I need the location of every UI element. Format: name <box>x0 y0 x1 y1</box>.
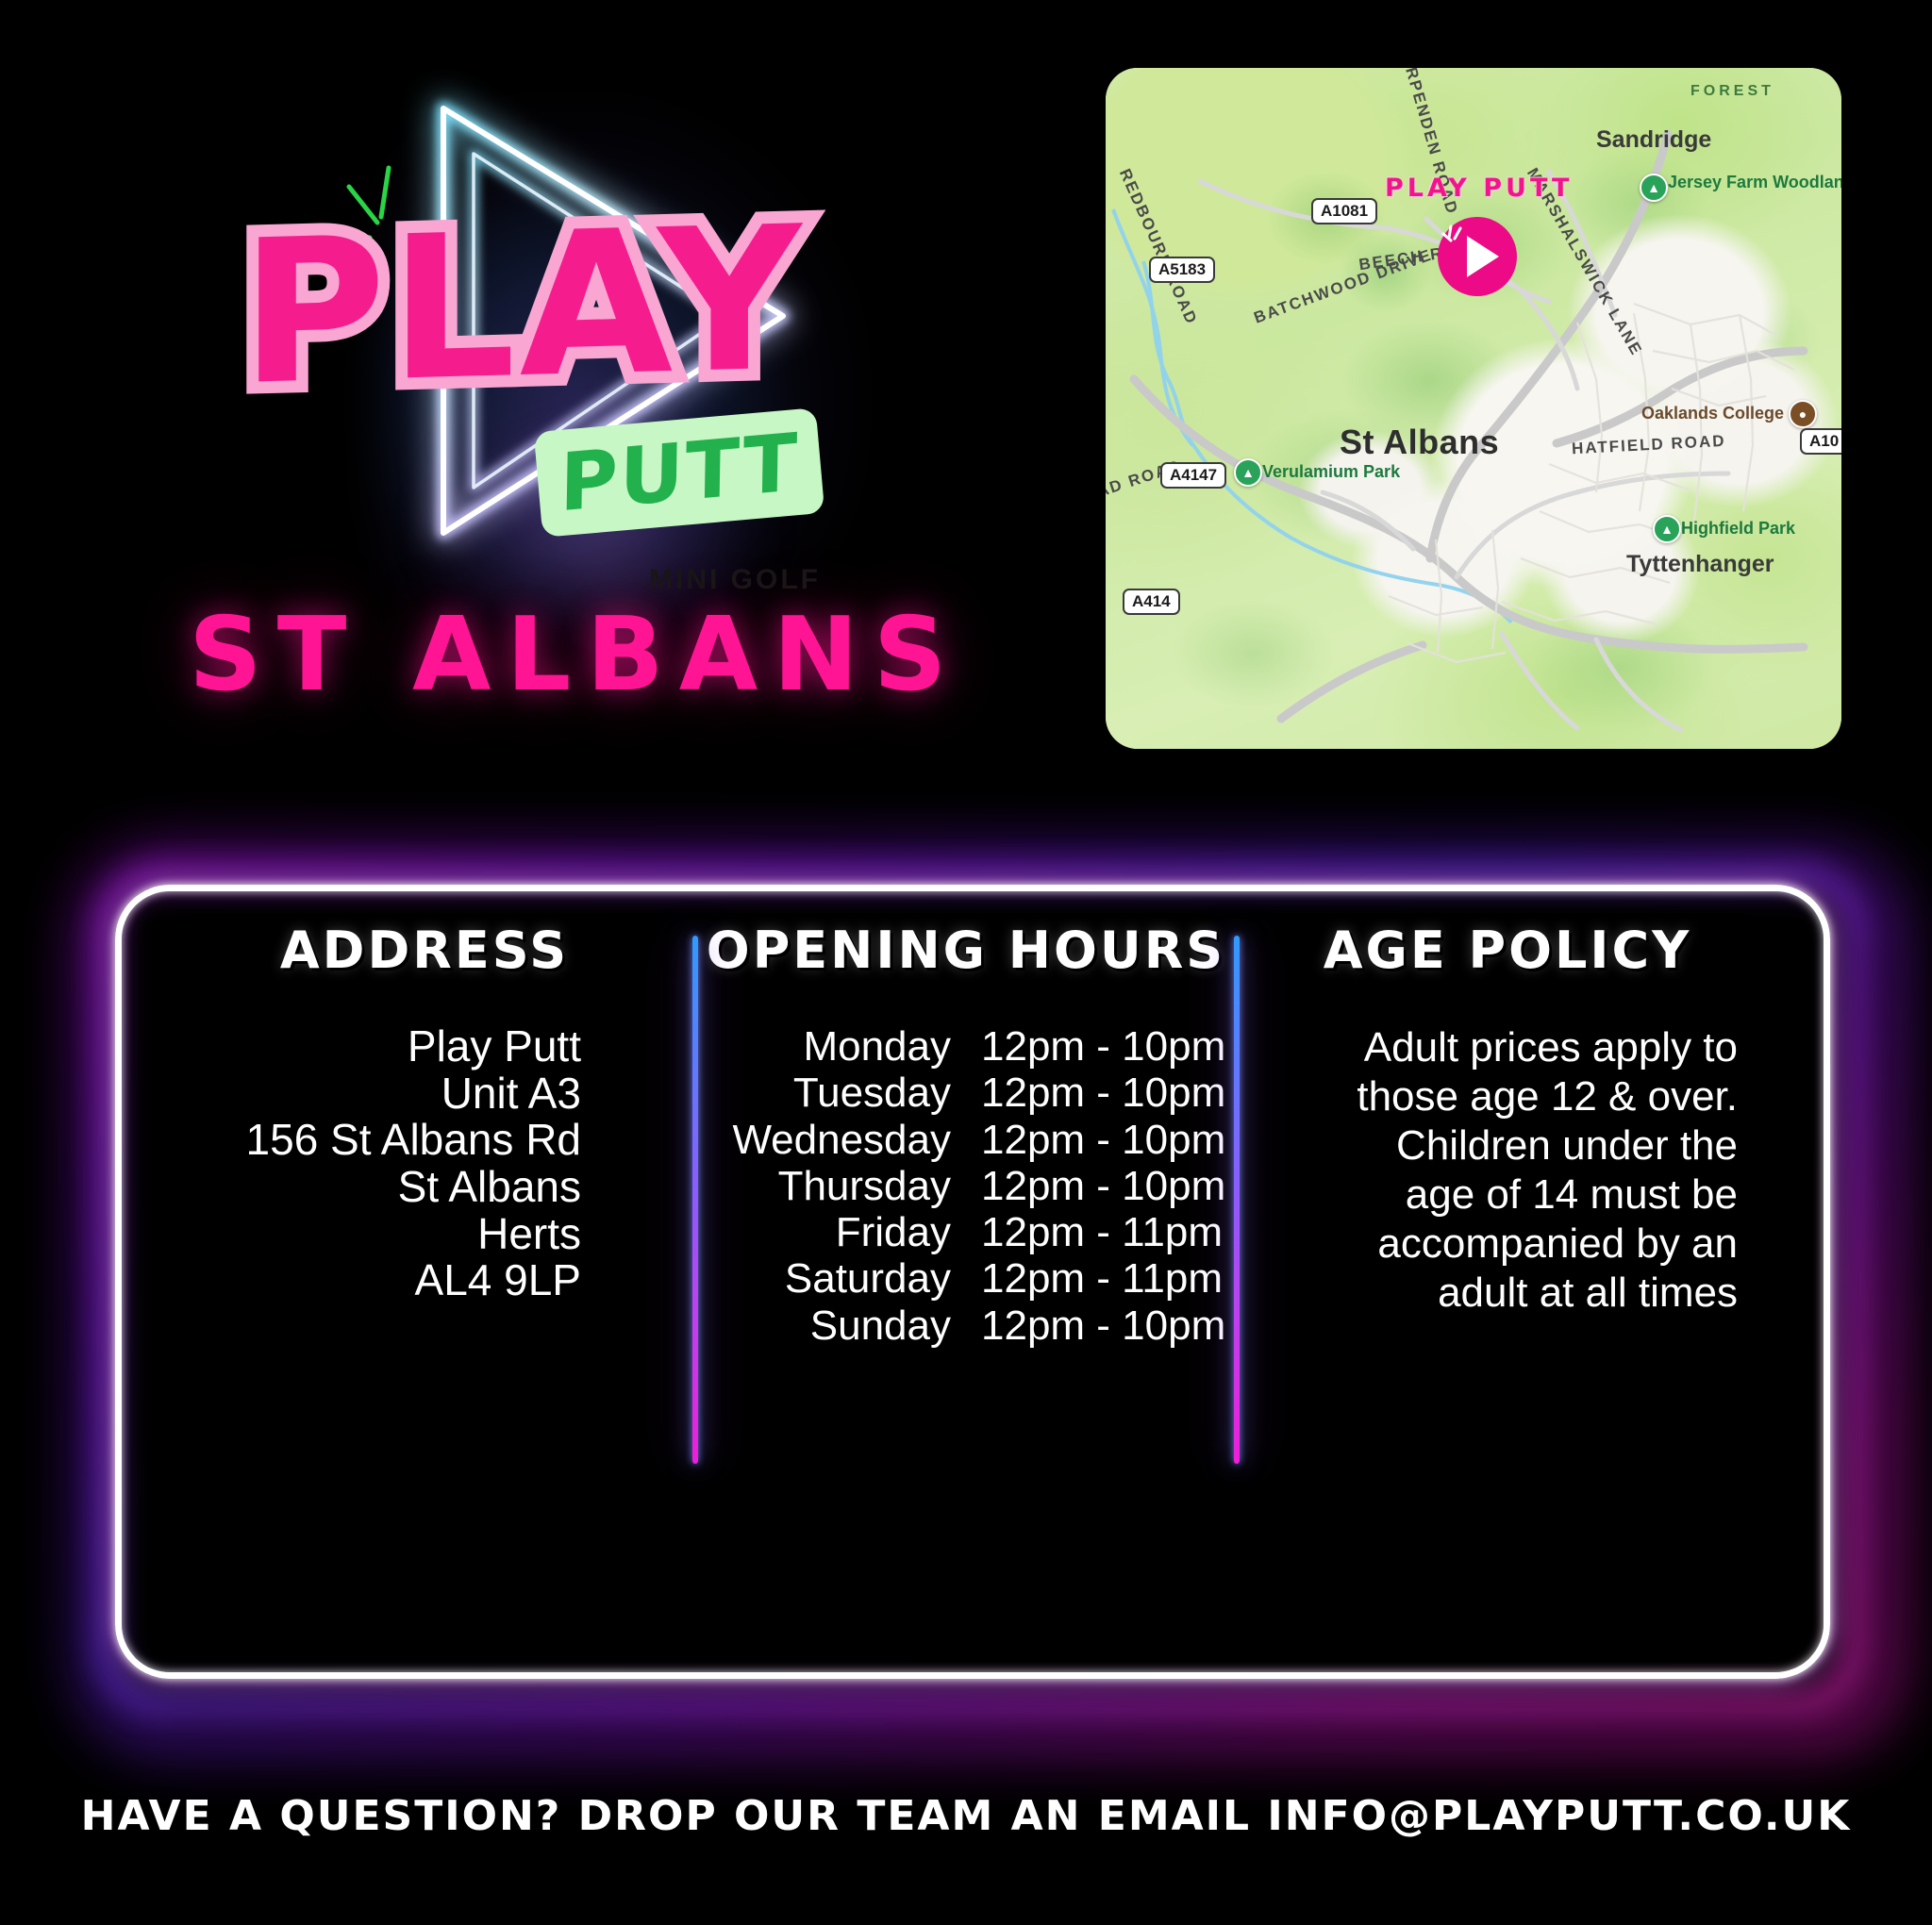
address-heading: ADDRESS <box>157 921 692 980</box>
address-column: ADDRESS Play Putt Unit A3 156 St Albans … <box>157 913 692 1304</box>
hours-row: Tuesday 12pm - 10pm <box>698 1070 1234 1116</box>
logo-putt-word: PUTT <box>559 423 800 523</box>
play-putt-logo: PLAY PUTT MINI GOLF <box>142 38 991 622</box>
marker-sparkle-icon <box>1438 217 1475 255</box>
map-roads-layer <box>1106 68 1841 749</box>
info-panel: ADDRESS Play Putt Unit A3 156 St Albans … <box>91 860 1841 1690</box>
road-shield-a414: A414 <box>1123 589 1180 615</box>
map-marker-label: PLAY PUTT <box>1385 174 1573 203</box>
road-shield-a4147: A4147 <box>1160 462 1226 489</box>
page-title: ST ALBANS <box>189 596 962 714</box>
policy-line: accompanied by an <box>1240 1220 1775 1269</box>
park-icon-verulamium: ▲ <box>1234 458 1262 487</box>
address-body: Play Putt Unit A3 156 St Albans Rd St Al… <box>157 1023 692 1304</box>
hours-day: Saturday <box>698 1255 951 1302</box>
neon-divider-left <box>692 936 698 1464</box>
hours-time: 12pm - 11pm <box>981 1209 1234 1255</box>
policy-line: Adult prices apply to <box>1240 1023 1775 1072</box>
hours-time: 12pm - 10pm <box>981 1163 1234 1209</box>
hours-day: Tuesday <box>698 1070 951 1116</box>
info-panel-content: ADDRESS Play Putt Unit A3 156 St Albans … <box>157 913 1775 1637</box>
park-icon-highfield: ▲ <box>1653 515 1681 543</box>
age-policy-column: AGE POLICY Adult prices apply to those a… <box>1240 913 1775 1317</box>
opening-hours-column: OPENING HOURS Monday 12pm - 10pm Tuesday… <box>698 913 1234 1349</box>
age-policy-heading: AGE POLICY <box>1240 921 1775 980</box>
hours-row: Friday 12pm - 11pm <box>698 1209 1234 1255</box>
policy-line: adult at all times <box>1240 1269 1775 1318</box>
park-icon-jersey-farm: ▲ <box>1640 174 1668 202</box>
policy-line: those age 12 & over. <box>1240 1072 1775 1121</box>
logo-play-word: PLAY <box>241 200 805 413</box>
road-shield-a10: A10 <box>1800 428 1841 455</box>
opening-hours-table: Monday 12pm - 10pm Tuesday 12pm - 10pm W… <box>698 1023 1234 1349</box>
address-line: AL4 9LP <box>157 1257 692 1304</box>
header-section: PLAY PUTT MINI GOLF ST ALBANS <box>0 0 1932 792</box>
hours-day: Sunday <box>698 1303 951 1349</box>
road-shield-a5183: A5183 <box>1149 257 1215 283</box>
policy-line: Children under the <box>1240 1121 1775 1170</box>
hours-row: Thursday 12pm - 10pm <box>698 1163 1234 1209</box>
hours-time: 12pm - 10pm <box>981 1303 1234 1349</box>
hours-day: Thursday <box>698 1163 951 1209</box>
address-line: Herts <box>157 1211 692 1258</box>
hours-row: Sunday 12pm - 10pm <box>698 1303 1234 1349</box>
hours-day: Monday <box>698 1023 951 1070</box>
address-line: 156 St Albans Rd <box>157 1117 692 1164</box>
address-line: Unit A3 <box>157 1070 692 1118</box>
opening-hours-heading: OPENING HOURS <box>698 921 1234 980</box>
road-shield-a1081: A1081 <box>1311 198 1377 224</box>
location-map[interactable]: FOREST Sandridge St Albans Tyttenhanger … <box>1106 68 1841 749</box>
hours-time: 12pm - 11pm <box>981 1255 1234 1302</box>
contact-footer[interactable]: HAVE A QUESTION? DROP OUR TEAM AN EMAIL … <box>0 1792 1932 1840</box>
hours-day: Friday <box>698 1209 951 1255</box>
policy-line: age of 14 must be <box>1240 1170 1775 1220</box>
hours-row: Monday 12pm - 10pm <box>698 1023 1234 1070</box>
age-policy-body: Adult prices apply to those age 12 & ove… <box>1240 1023 1775 1317</box>
address-line: Play Putt <box>157 1023 692 1070</box>
hours-time: 12pm - 10pm <box>981 1070 1234 1116</box>
logo-tagline: MINI GOLF <box>649 564 821 596</box>
address-line: St Albans <box>157 1164 692 1211</box>
hours-row: Saturday 12pm - 11pm <box>698 1255 1234 1302</box>
hours-day: Wednesday <box>698 1117 951 1163</box>
hours-row: Wednesday 12pm - 10pm <box>698 1117 1234 1163</box>
hours-time: 12pm - 10pm <box>981 1117 1234 1163</box>
neon-divider-right <box>1234 936 1240 1464</box>
hours-time: 12pm - 10pm <box>981 1023 1234 1070</box>
college-icon-oaklands: ● <box>1789 400 1817 428</box>
